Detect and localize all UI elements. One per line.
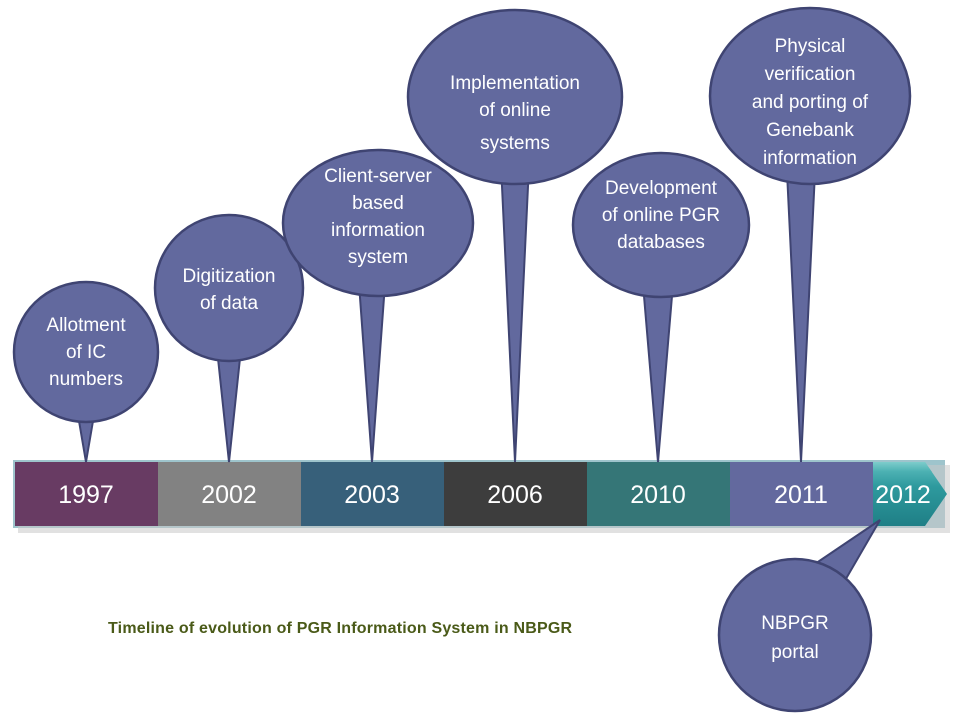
bubble-line: Implementation bbox=[450, 73, 580, 94]
diagram-caption: Timeline of evolution of PGR Information… bbox=[108, 620, 573, 637]
callout-bubble-2012[interactable]: NBPGR portal bbox=[719, 559, 871, 711]
timeline-year-label: 2012 bbox=[875, 481, 931, 509]
bubble-line: verification bbox=[765, 64, 856, 85]
callout-bubble-2002[interactable]: Digitization of data bbox=[155, 215, 303, 361]
callout-bubble-2010[interactable]: Development of online PGR databases bbox=[573, 153, 749, 297]
timeline-segment-2011[interactable]: 2011 bbox=[730, 462, 873, 526]
bubble-line: Genebank bbox=[766, 120, 854, 141]
bubble-line: of online PGR bbox=[602, 205, 720, 226]
timeline-segment-2003[interactable]: 2003 bbox=[301, 462, 444, 526]
timeline-diagram: 1997 2002 2003 2006 2010 bbox=[0, 0, 960, 720]
timeline-year-label: 2003 bbox=[344, 481, 400, 509]
bubble-line: based bbox=[352, 193, 404, 214]
callout-tail-2011 bbox=[787, 172, 815, 462]
bubble-line: numbers bbox=[49, 369, 123, 390]
bubble-line: Allotment bbox=[46, 315, 126, 336]
bubble-line: information bbox=[763, 148, 857, 169]
callout-tail-2003 bbox=[358, 270, 386, 462]
timeline-segment-1997[interactable]: 1997 bbox=[15, 462, 158, 526]
timeline-segment-2010[interactable]: 2010 bbox=[587, 462, 730, 526]
timeline-year-label: 1997 bbox=[58, 481, 114, 509]
timeline-year-label: 2002 bbox=[201, 481, 257, 509]
callout-bubble-2011[interactable]: Physical verification and porting of Gen… bbox=[710, 8, 910, 184]
bubble-line: system bbox=[348, 247, 408, 268]
bubble-line: information bbox=[331, 220, 425, 241]
timeline-bar: 1997 2002 2003 2006 2010 bbox=[15, 462, 947, 526]
bubble-line: of data bbox=[200, 293, 259, 314]
bubble-line: of IC bbox=[66, 342, 106, 363]
bubble-line: Physical bbox=[775, 36, 846, 57]
bubble-line: NBPGR bbox=[761, 613, 829, 634]
timeline-year-label: 2010 bbox=[630, 481, 686, 509]
timeline-year-label: 2006 bbox=[487, 481, 543, 509]
bubble-line: and porting of bbox=[752, 92, 869, 113]
callout-tail-2010 bbox=[644, 296, 672, 462]
bubble-line: portal bbox=[771, 642, 819, 663]
callout-bubble-1997[interactable]: Allotment of IC numbers bbox=[14, 282, 158, 422]
timeline-diagram-canvas: 1997 2002 2003 2006 2010 bbox=[0, 0, 960, 720]
bubble-line: Client-server bbox=[324, 166, 432, 187]
bubble-line: systems bbox=[480, 133, 550, 154]
timeline-year-label: 2011 bbox=[774, 481, 828, 509]
callout-bubble-2003[interactable]: Client-server based information system bbox=[283, 150, 473, 296]
timeline-segment-2002[interactable]: 2002 bbox=[158, 462, 301, 526]
bubble-line: databases bbox=[617, 232, 705, 253]
callout-tail-2006 bbox=[501, 165, 529, 462]
bubble-line: Digitization bbox=[183, 266, 276, 287]
bubble-line: of online bbox=[479, 100, 551, 121]
bubble-line: Development bbox=[605, 178, 718, 199]
timeline-segment-2006[interactable]: 2006 bbox=[444, 462, 587, 526]
callout-bubble-2006[interactable]: Implementation of online systems bbox=[408, 10, 622, 184]
